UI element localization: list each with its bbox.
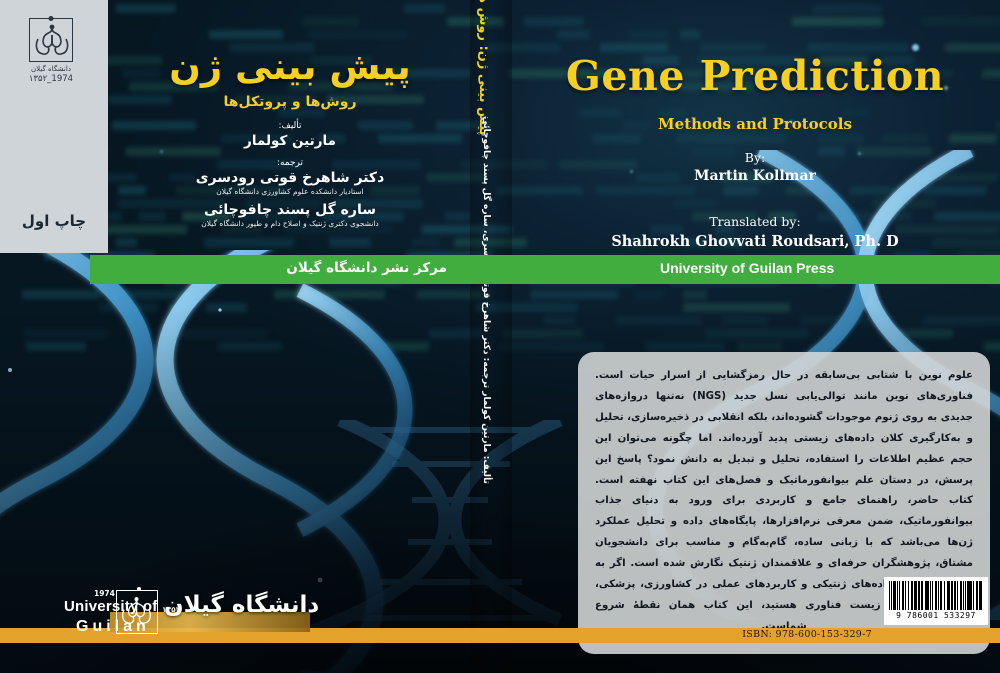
logo-year-en: 1974 xyxy=(94,589,115,598)
publisher-name-fa: مرکز نشر دانشگاه گیلان xyxy=(286,260,447,276)
back-cover-grey-panel: دانشگاه گیلان ۱۳۵۲_1974 چاپ اول xyxy=(0,0,108,253)
barcode: 9 786001 533297 xyxy=(884,577,988,625)
guilan-emblem-icon xyxy=(117,591,156,632)
guilan-emblem-icon xyxy=(30,19,74,63)
logo-emblem-frame xyxy=(116,590,158,634)
emblem-frame xyxy=(29,18,73,62)
author-label: By: xyxy=(520,150,990,165)
barcode-bars xyxy=(889,581,983,610)
translator-1: Shahrokh Ghovvati Roudsari, Ph. D xyxy=(520,233,990,250)
isbn-text: ISBN: 978-600-153-329-7 xyxy=(742,629,872,640)
university-emblem: دانشگاه گیلان ۱۳۵۲_1974 xyxy=(23,18,79,80)
emblem-year: ۱۳۵۲_1974 xyxy=(23,74,79,84)
translated-by-label: Translated by: xyxy=(520,214,990,229)
logo-name-fa: دانشگاه گیلان xyxy=(164,592,319,618)
book-spine: پیش بینی ژن: روش ها و پروتکل ها تألیف: م… xyxy=(470,0,512,673)
persian-translator-2: ساره گل پسند چافوچائی xyxy=(120,202,460,218)
persian-translator-2-affiliation: دانشجوی دکتری ژنتیک و اصلاح دام و طیور د… xyxy=(120,219,460,228)
persian-translator-1: دکتر شاهرخ قوتی رودسری xyxy=(120,170,460,186)
emblem-label: دانشگاه گیلان xyxy=(23,65,79,73)
persian-subtitle: روش‌ها و پروتکل‌ها xyxy=(120,94,460,110)
guilan-footer-logo: University of Guilan 1974 ۱۳۵۲ دانشگاه گ… xyxy=(20,586,320,656)
persian-title-block: پیش بینی ژن روش‌ها و پروتکل‌ها تألیف: ما… xyxy=(120,46,460,228)
publisher-name-en: University of Guilan Press xyxy=(660,260,834,276)
persian-author: مارتین کولمار xyxy=(120,133,460,149)
publisher-band: مرکز نشر دانشگاه گیلان University of Gui… xyxy=(90,255,1000,284)
emblem-finial-icon xyxy=(49,16,54,21)
edition-badge: چاپ اول xyxy=(0,212,108,230)
persian-author-label: تألیف: xyxy=(120,121,460,131)
barcode-digits: 9 786001 533297 xyxy=(889,611,983,620)
persian-translator-1-affiliation: استادیار دانشکده علوم کشاورزی دانشگاه گی… xyxy=(120,187,460,196)
persian-title: پیش بینی ژن xyxy=(120,46,460,87)
logo-emblem-finial-icon xyxy=(137,587,141,591)
book-subtitle: Methods and Protocols xyxy=(520,115,990,133)
english-title-block: Gene Prediction Methods and Protocols By… xyxy=(520,52,990,271)
book-cover: پیش بینی ژن: روش ها و پروتکل ها تألیف: م… xyxy=(0,0,1000,673)
persian-translator-label: ترجمه: xyxy=(120,158,460,168)
book-title: Gene Prediction xyxy=(520,52,990,100)
spine-credits: تألیف: مارتین کولمار ترجمه: دکتر شاهرخ ق… xyxy=(481,116,491,484)
author-name: Martin Kollmar xyxy=(520,168,990,184)
bokeh-dot xyxy=(912,44,919,51)
